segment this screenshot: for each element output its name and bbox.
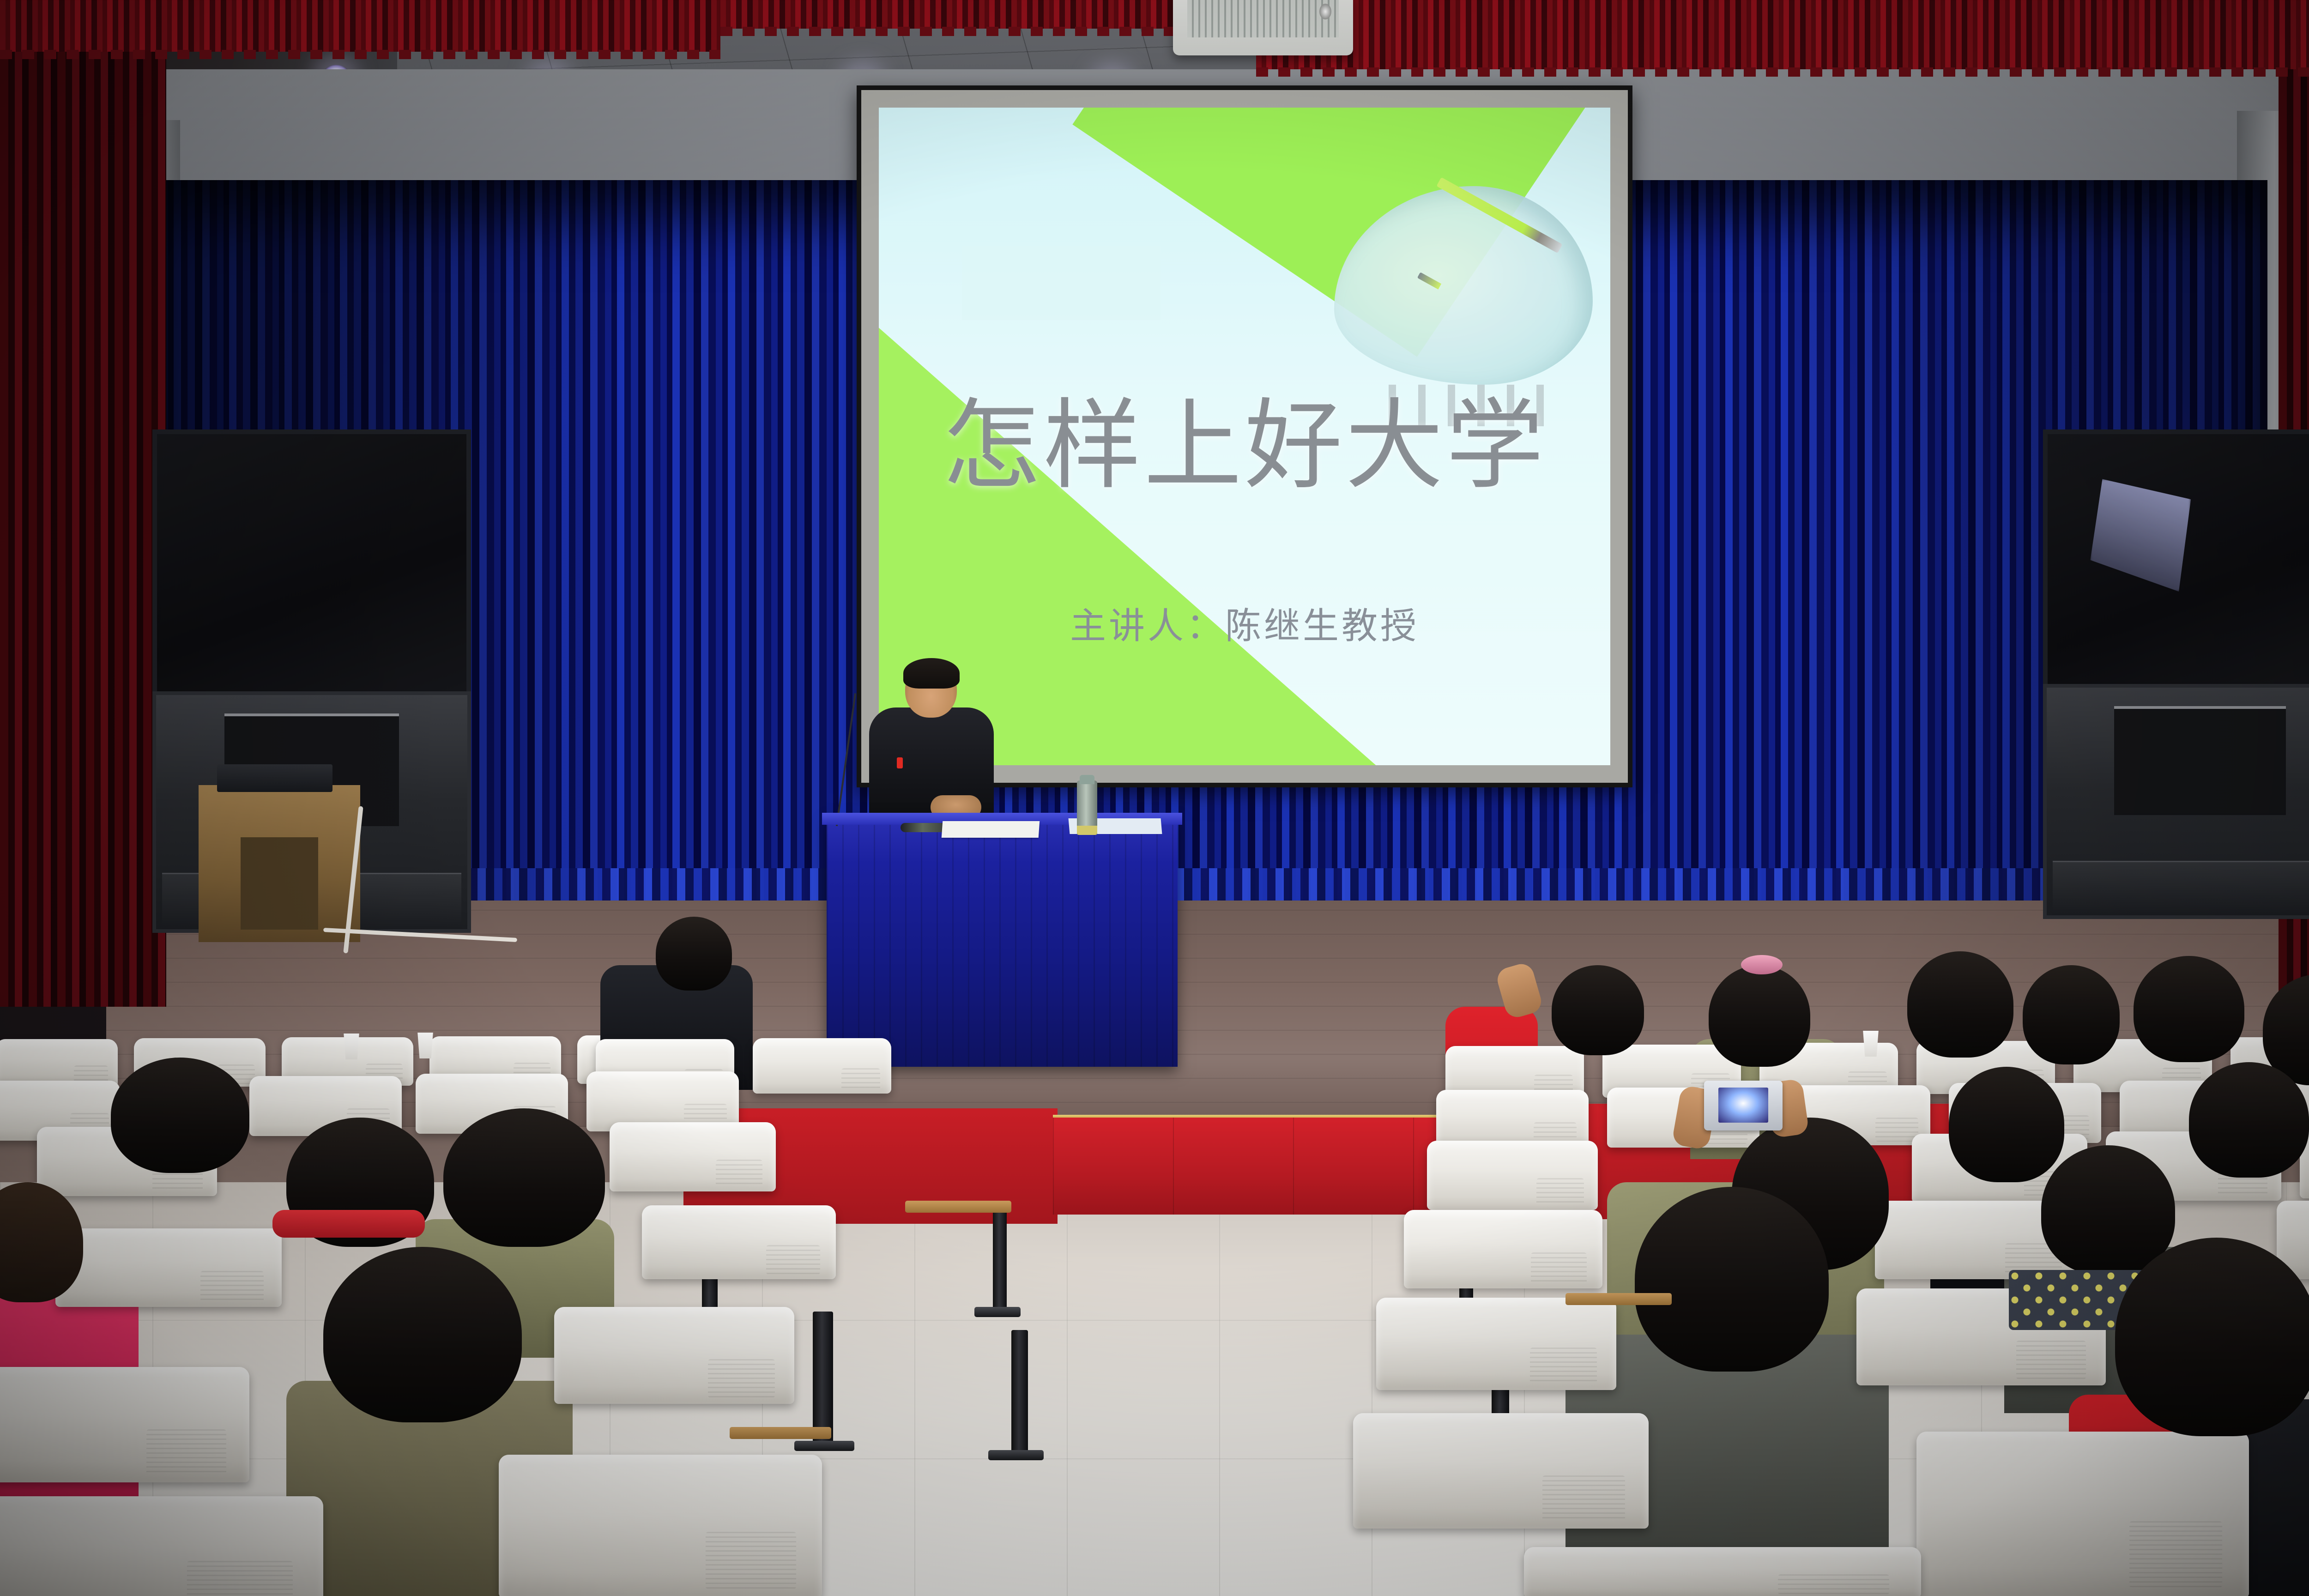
- armrest: [730, 1427, 831, 1439]
- audience-member-head: [2134, 956, 2244, 1062]
- audience-member-head: [1907, 951, 2013, 1058]
- av-equipment: [217, 764, 332, 792]
- slide-faint-lines: [962, 246, 1161, 320]
- slide-subtitle: 主讲人：陈继生教授: [879, 597, 1610, 649]
- red-curtain-left: [0, 0, 166, 1007]
- stage-front-center: [1053, 1118, 1469, 1215]
- audience-member-head: [111, 1058, 249, 1173]
- hair-bow-icon: [1741, 955, 1783, 974]
- seat[interactable]: [0, 1367, 249, 1482]
- seat[interactable]: [1376, 1298, 1616, 1390]
- audience-member-head: [2041, 1145, 2175, 1275]
- screen-border: 怎样上好大学 主讲人：陈继生教授: [861, 90, 1628, 783]
- tv-cabinet-right: [2043, 684, 2309, 919]
- av-desk-shelf: [241, 835, 318, 930]
- lecture-table: [827, 817, 1178, 1067]
- tv-screen-left: [152, 429, 471, 691]
- seat[interactable]: [0, 1496, 323, 1596]
- tv-speaker-grille-right: [2114, 706, 2286, 816]
- projection-screen: 怎样上好大学 主讲人：陈继生教授: [857, 85, 1632, 787]
- camera-screen: [1718, 1088, 1769, 1123]
- audience-member-head: [2023, 965, 2120, 1064]
- audience-member-head: [323, 1247, 522, 1422]
- tv-screen-right: [2043, 429, 2309, 684]
- red-scarf: [272, 1210, 425, 1238]
- audience-member-head: [656, 917, 732, 991]
- audience-member-head: [1552, 965, 1644, 1055]
- av-desk: [199, 785, 360, 942]
- audience-member-head: [2115, 1238, 2309, 1436]
- valance-left: [0, 0, 720, 52]
- armrest: [1566, 1293, 1672, 1305]
- air-conditioner-vent: [1173, 0, 1353, 55]
- television-unit-right: [2043, 429, 2309, 919]
- seat[interactable]: [554, 1307, 794, 1404]
- lecturer-hair: [903, 658, 960, 689]
- lecture-hall-scene: 怎样上好大学 主讲人：陈继生教授: [0, 0, 2309, 1596]
- audience-member-head: [1709, 965, 1810, 1067]
- audience-member-head: [2189, 1062, 2309, 1178]
- audience-member-head: [1949, 1067, 2064, 1182]
- seat[interactable]: [1916, 1432, 2249, 1596]
- seat-leg: [993, 1210, 1007, 1316]
- audience-member-head: [443, 1108, 605, 1247]
- tv-base-right: [2053, 861, 2309, 915]
- armrest: [905, 1201, 1011, 1213]
- seat[interactable]: [1524, 1547, 1921, 1596]
- lecturer-badge: [897, 757, 903, 768]
- seat[interactable]: [499, 1455, 822, 1596]
- papers-on-table: [942, 821, 1040, 838]
- seat[interactable]: [753, 1038, 891, 1094]
- seat[interactable]: [55, 1228, 282, 1307]
- seat[interactable]: [610, 1122, 776, 1191]
- thermos-cap-icon: [1080, 775, 1094, 784]
- seat-foot: [974, 1307, 1021, 1317]
- seat-foot: [988, 1450, 1044, 1460]
- seat[interactable]: [1353, 1413, 1649, 1529]
- audience-member-head: [1635, 1187, 1829, 1372]
- thermos-base-icon: [1077, 826, 1097, 835]
- valance-right: [1256, 0, 2309, 69]
- seat[interactable]: [642, 1205, 836, 1279]
- seat-foot: [794, 1441, 854, 1451]
- seat[interactable]: [1427, 1141, 1598, 1210]
- seat[interactable]: [1404, 1210, 1602, 1288]
- digital-camera[interactable]: [1704, 1081, 1783, 1130]
- slide-title: 怎样上好大学: [879, 366, 1610, 508]
- presentation-slide: 怎样上好大学 主讲人：陈继生教授: [879, 108, 1610, 765]
- seat-leg: [1011, 1330, 1028, 1459]
